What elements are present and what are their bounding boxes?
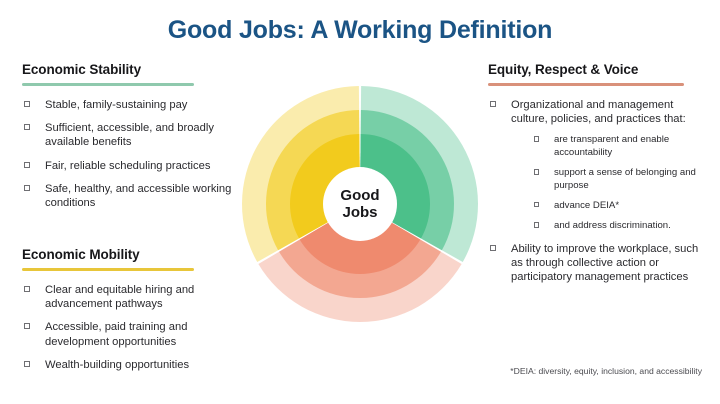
checkbox-square-icon <box>490 245 496 251</box>
list-item-label: Ability to improve the workplace, such a… <box>511 243 698 283</box>
list-item: Safe, healthy, and accessible working co… <box>22 182 244 210</box>
list-item: Organizational and management culture, p… <box>488 98 700 233</box>
section-heading-equity-respect-voice: Equity, Respect & Voice <box>488 62 700 77</box>
checkbox-square-icon <box>24 185 30 191</box>
checkbox-square-icon <box>24 323 30 329</box>
donut-chart-svg <box>238 78 482 330</box>
divider-rule-green <box>22 83 194 86</box>
checkbox-square-icon <box>534 169 539 174</box>
list-item-label: Accessible, paid training and developmen… <box>45 321 187 347</box>
section-economic-stability: Economic Stability Stable, family-sustai… <box>22 62 244 210</box>
list-item-label: Sufficient, accessible, and broadly avai… <box>45 122 214 148</box>
sub-list-item-label: support a sense of belonging and purpose <box>554 167 696 190</box>
section-heading-economic-stability: Economic Stability <box>22 62 244 77</box>
sub-list-item-label: are transparent and enable accountabilit… <box>554 134 669 157</box>
checkbox-square-icon <box>534 222 539 227</box>
sub-list-item: support a sense of belonging and purpose <box>532 167 700 192</box>
donut-center-hole <box>323 167 397 241</box>
list-item: Clear and equitable hiring and advanceme… <box>22 283 244 311</box>
list-item: Accessible, paid training and developmen… <box>22 320 244 348</box>
checkbox-square-icon <box>24 124 30 130</box>
list-item-label: Organizational and management culture, p… <box>511 99 686 125</box>
checkbox-square-icon <box>490 101 496 107</box>
checkbox-square-icon <box>24 162 30 168</box>
section-heading-economic-mobility: Economic Mobility <box>22 247 244 262</box>
bullet-list-equity-respect-voice: Organizational and management culture, p… <box>488 98 700 284</box>
list-item-label: Stable, family-sustaining pay <box>45 99 187 111</box>
sub-list-item: and address discrimination. <box>532 220 700 232</box>
divider-rule-gold <box>22 268 194 271</box>
list-item-label: Wealth-building opportunities <box>45 359 189 371</box>
sub-list-item: advance DEIA* <box>532 200 700 212</box>
good-jobs-donut-chart: Good Jobs <box>238 78 482 330</box>
divider-rule-salmon <box>488 83 684 86</box>
list-item: Ability to improve the workplace, such a… <box>488 242 700 285</box>
list-item: Sufficient, accessible, and broadly avai… <box>22 121 244 149</box>
list-item-label: Fair, reliable scheduling practices <box>45 160 210 172</box>
checkbox-square-icon <box>24 101 30 107</box>
list-item: Wealth-building opportunities <box>22 358 244 372</box>
list-item: Stable, family-sustaining pay <box>22 98 244 112</box>
checkbox-square-icon <box>534 202 539 207</box>
checkbox-square-icon <box>534 136 539 141</box>
sub-bullet-list: are transparent and enable accountabilit… <box>511 134 700 232</box>
sub-list-item: are transparent and enable accountabilit… <box>532 134 700 159</box>
sub-list-item-label: advance DEIA* <box>554 200 619 211</box>
section-economic-mobility: Economic Mobility Clear and equitable hi… <box>22 247 244 372</box>
slide-canvas: Good Jobs: A Working Definition Economic… <box>0 0 720 404</box>
bullet-list-economic-stability: Stable, family-sustaining pay Sufficient… <box>22 98 244 210</box>
list-item-label: Clear and equitable hiring and advanceme… <box>45 284 194 310</box>
section-equity-respect-voice: Equity, Respect & Voice Organizational a… <box>488 62 700 284</box>
checkbox-square-icon <box>24 286 30 292</box>
bullet-list-economic-mobility: Clear and equitable hiring and advanceme… <box>22 283 244 372</box>
footnote-deia: *DEIA: diversity, equity, inclusion, and… <box>440 366 702 376</box>
page-title: Good Jobs: A Working Definition <box>0 16 720 45</box>
checkbox-square-icon <box>24 361 30 367</box>
list-item-label: Safe, healthy, and accessible working co… <box>45 183 231 209</box>
list-item: Fair, reliable scheduling practices <box>22 159 244 173</box>
sub-list-item-label: and address discrimination. <box>554 220 671 231</box>
